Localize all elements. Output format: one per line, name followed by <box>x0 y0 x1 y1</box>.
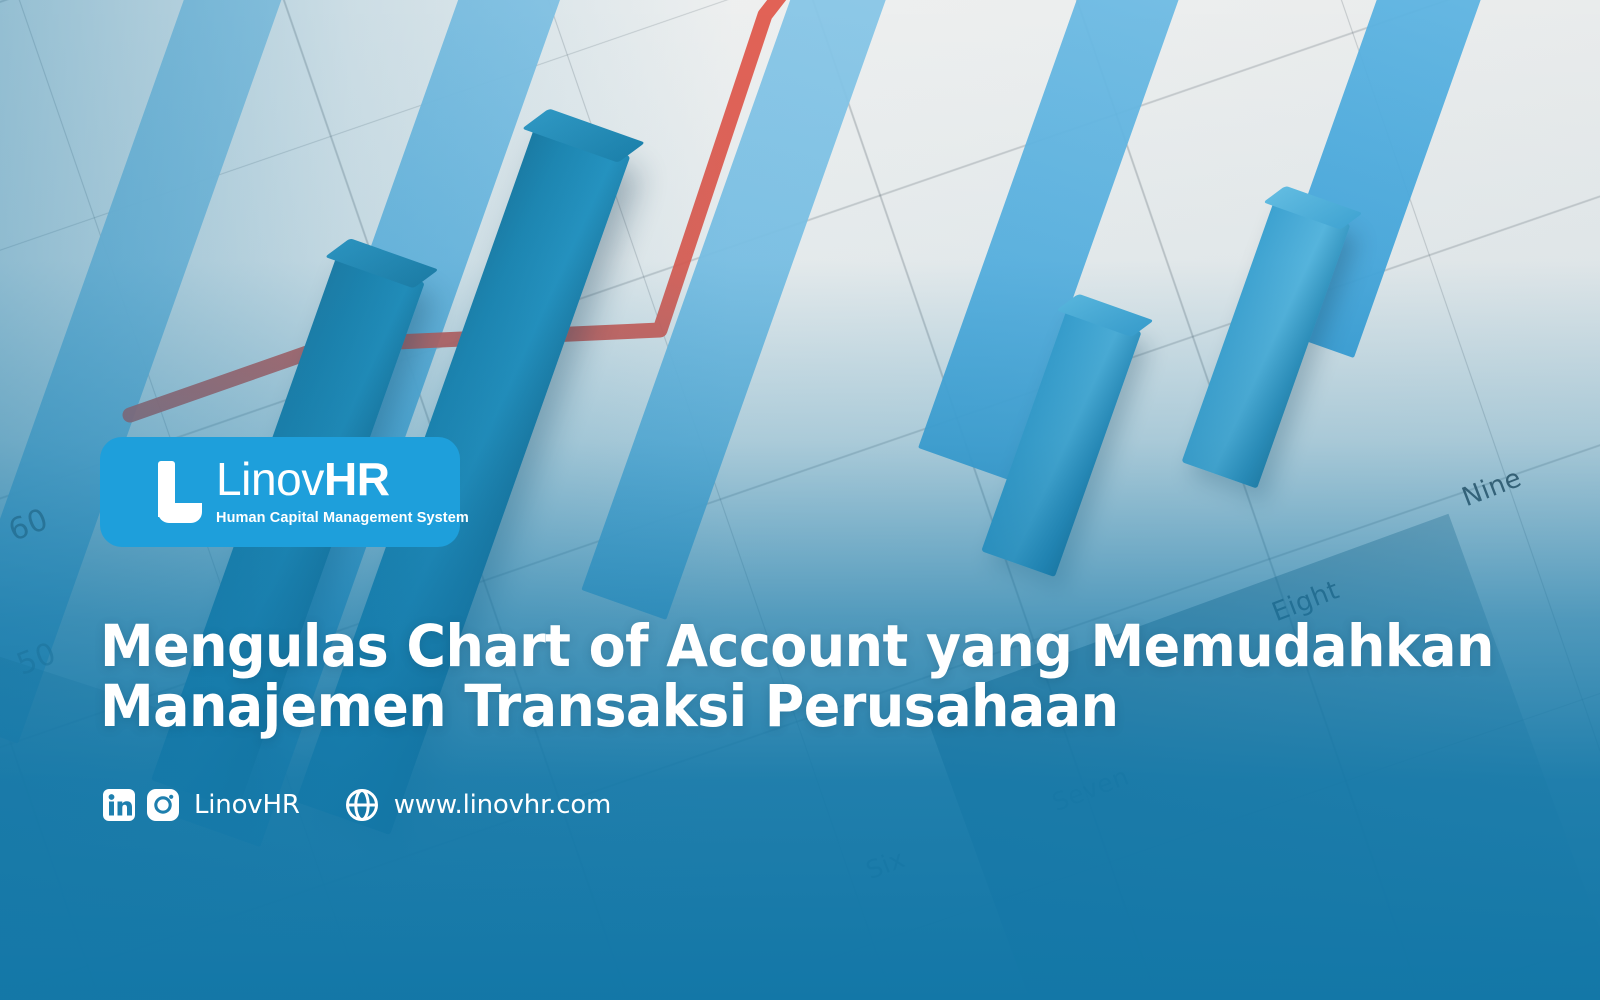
social-footer: LinovHR www.linovhr.com <box>102 785 611 825</box>
page-title-line-2: Manajemen Transaksi Perusahaan <box>100 677 1458 737</box>
logo-wordmark: LinovHR Human Capital Management System <box>216 456 469 528</box>
social-share-banner: 60 50 Six Seven Eight Nine LinovHR Human… <box>0 0 1600 1000</box>
logo-l-mark-icon <box>152 461 202 523</box>
page-title-line-1: Mengulas Chart of Account yang Memudahka… <box>100 617 1458 677</box>
logo-name: LinovHR <box>216 456 469 502</box>
website-url[interactable]: www.linovhr.com <box>394 790 611 820</box>
page-title: Mengulas Chart of Account yang Memudahka… <box>100 617 1458 736</box>
linovhr-logo-badge[interactable]: LinovHR Human Capital Management System <box>100 437 460 547</box>
instagram-icon[interactable] <box>146 788 180 822</box>
globe-icon[interactable] <box>344 787 380 823</box>
logo-name-bold: HR <box>324 453 390 505</box>
social-handle: LinovHR <box>194 790 300 820</box>
banner-content: LinovHR Human Capital Management System … <box>100 0 1540 1000</box>
logo-tagline: Human Capital Management System <box>216 511 469 526</box>
linkedin-icon[interactable] <box>102 788 136 822</box>
logo-name-light: Linov <box>216 453 324 505</box>
